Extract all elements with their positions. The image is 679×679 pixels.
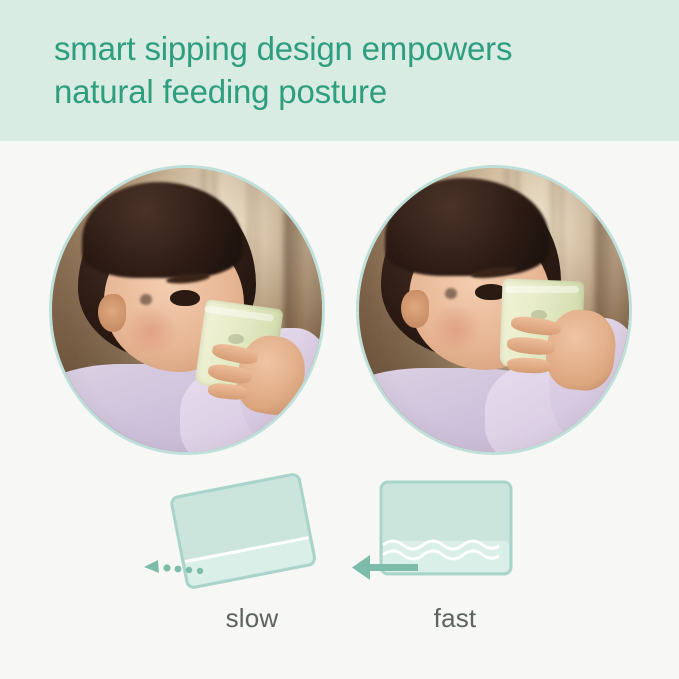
slow-cup-icon [171, 473, 316, 588]
page-title: smart sipping design empowers natural fe… [54, 27, 654, 113]
slow-arrow-icon [144, 560, 203, 574]
fast-cup-icon [381, 482, 511, 574]
fast-label: fast [390, 603, 520, 634]
photo-left [49, 165, 325, 455]
slow-label: slow [182, 603, 322, 634]
header-banner: smart sipping design empowers natural fe… [0, 0, 679, 141]
photo-right-scene [359, 168, 629, 452]
photo-left-scene [52, 168, 322, 452]
photo-right [356, 165, 632, 455]
fast-arrow-icon [352, 555, 418, 580]
product-infographic: smart sipping design empowers natural fe… [0, 0, 679, 679]
photo-band: slow fast [0, 141, 679, 679]
